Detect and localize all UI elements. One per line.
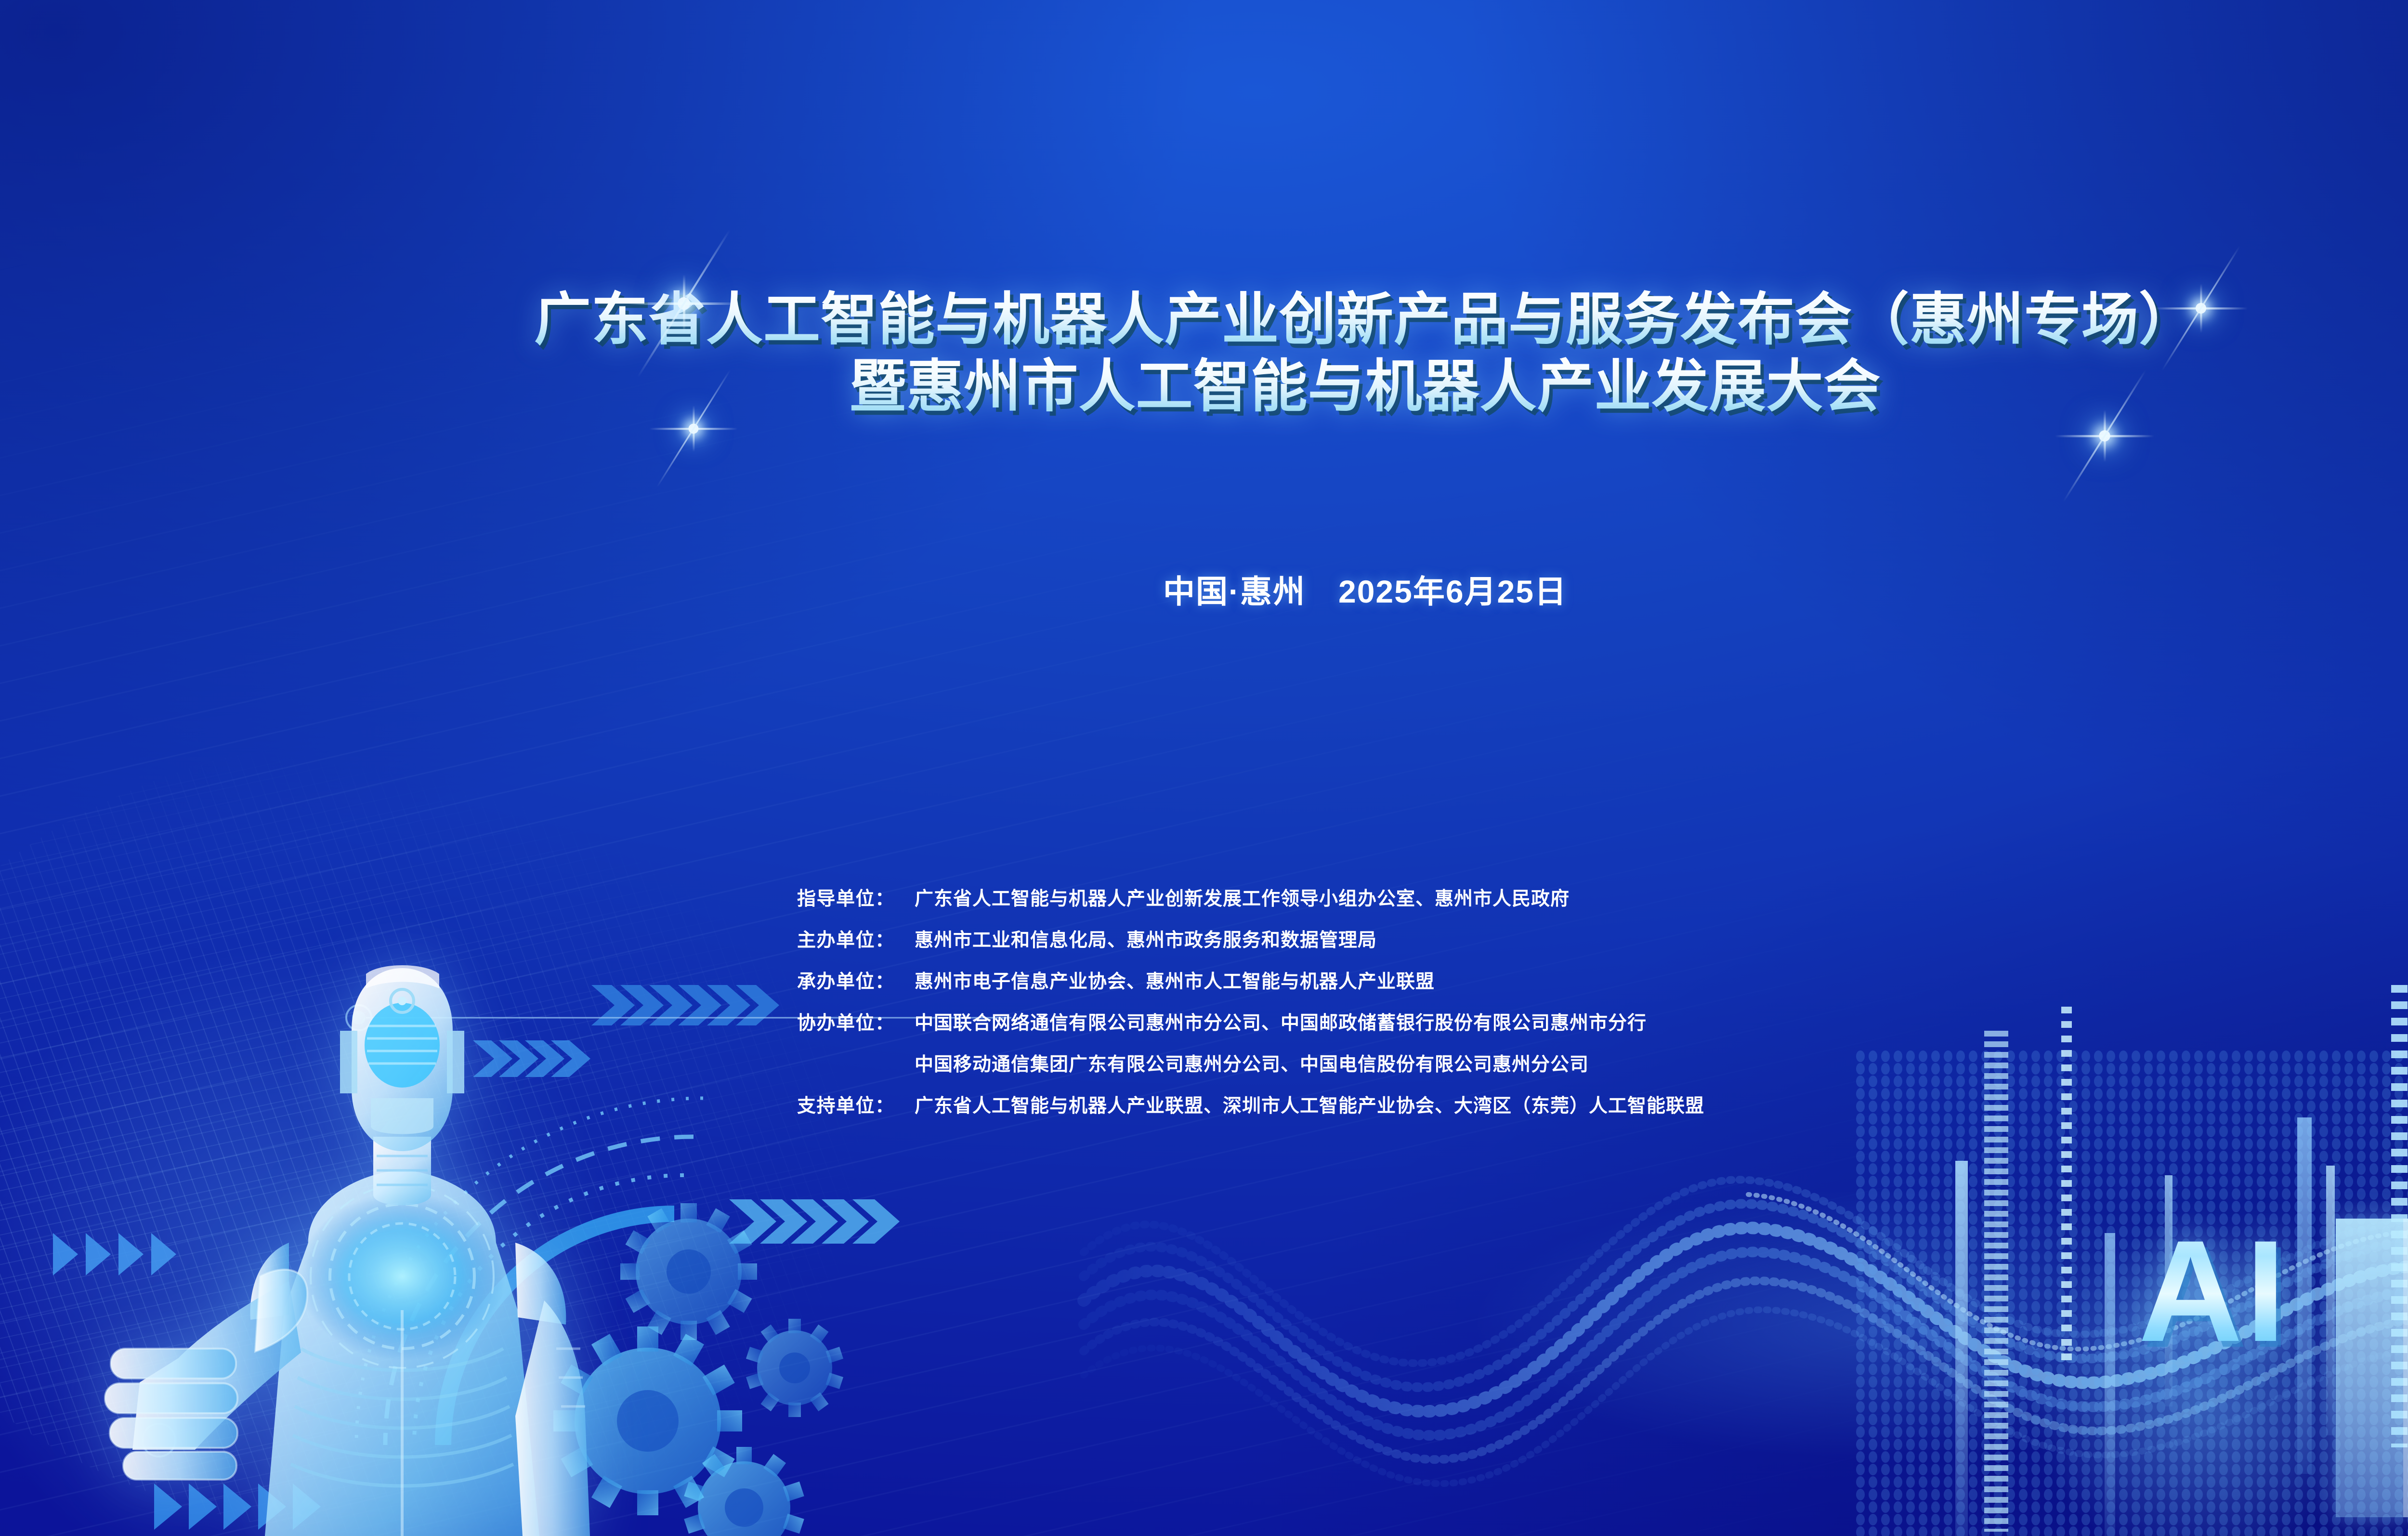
diagonal-streak-lines [0, 0, 2408, 1536]
organizer-row: 主办单位： 惠州市工业和信息化局、惠州市政务服务和数据管理局 [797, 925, 1704, 952]
organizer-value: 广东省人工智能与机器人产业联盟、深圳市人工智能产业协会、大湾区（东莞）人工智能联… [915, 1091, 1704, 1118]
node-circle-icon [143, 1424, 175, 1457]
poster-canvas: AI [0, 0, 2408, 1536]
organizer-label: 承办单位： [797, 967, 906, 994]
organizer-label: 支持单位： [797, 1091, 906, 1118]
chevron-arrow-icon [591, 985, 779, 1025]
title-line-2: 暨惠州市人工智能与机器人产业发展大会 [0, 354, 2408, 420]
chevron-arrow-icon [473, 1040, 590, 1077]
equalizer-bar-solid [2105, 1233, 2115, 1536]
equalizer-bar-segmented [2061, 1007, 2072, 1363]
humanoid-robot-figure [82, 944, 722, 1536]
equalizer-bar-solid [2297, 1117, 2312, 1474]
chevron-arrow-icon [729, 1199, 900, 1244]
organizer-label: 主办单位： [797, 925, 906, 952]
ai-glow-secondary [2345, 1180, 2408, 1536]
vertical-comb-texture [1854, 1050, 2408, 1536]
background-vignette [0, 0, 2408, 1536]
gear-icon [684, 1447, 804, 1536]
equalizer-bar-segmented [1984, 1031, 2008, 1532]
robot-glow [0, 915, 650, 1536]
organizer-value: 惠州市电子信息产业协会、惠州市人工智能与机器人产业联盟 [915, 967, 1435, 994]
organizer-row: 协办单位： 中国联合网络通信有限公司惠州市分公司、中国邮政储蓄银行股份有限公司惠… [797, 1008, 1704, 1035]
event-subtitle: 中国·惠州 2025年6月25日 [0, 566, 2408, 612]
title-line-1: 广东省人工智能与机器人产业创新产品与服务发布会（惠州专场） [0, 287, 2408, 354]
organizer-row: 承办单位： 惠州市电子信息产业协会、惠州市人工智能与机器人产业联盟 [797, 967, 1704, 994]
gear-icon [746, 1319, 843, 1417]
right-gear-decorations [568, 1146, 905, 1483]
organizer-value: 广东省人工智能与机器人产业创新发展工作领导小组办公室、惠州市人民政府 [915, 884, 1570, 911]
gear-icon [553, 1326, 742, 1515]
organizer-value: 惠州市工业和信息化局、惠州市政务服务和数据管理局 [915, 925, 1377, 952]
organizers-block: 指导单位： 广东省人工智能与机器人产业创新发展工作领导小组办公室、惠州市人民政府… [797, 884, 1704, 1132]
gear-icon [620, 1203, 757, 1340]
triangle-arrow-icon [53, 1233, 176, 1275]
organizer-label: 指导单位： [797, 884, 906, 911]
page-title: 广东省人工智能与机器人产业创新产品与服务发布会（惠州专场） 暨惠州市人工智能与机… [0, 287, 2408, 420]
organizer-label: 协办单位： [797, 1008, 906, 1035]
equalizer-bar-segmented [2391, 985, 2408, 1447]
hud-solid-ring [443, 1214, 674, 1445]
organizer-row: 指导单位： 广东省人工智能与机器人产业创新发展工作领导小组办公室、惠州市人民政府 [797, 884, 1704, 911]
organizer-value: 中国联合网络通信有限公司惠州市分公司、中国邮政储蓄银行股份有限公司惠州市分行 [915, 1008, 1647, 1035]
organizer-row-continuation: 协办单位： 中国移动通信集团广东有限公司惠州分公司、中国电信股份有限公司惠州分公… [797, 1050, 1704, 1077]
organizer-value: 中国移动通信集团广东有限公司惠州分公司、中国电信股份有限公司惠州分公司 [915, 1050, 1589, 1077]
triangle-arrow-icon [154, 1483, 321, 1530]
equalizer-bar-solid [1955, 1161, 1968, 1536]
ai-wordmark: AI [2138, 1219, 2289, 1363]
organizer-row: 支持单位： 广东省人工智能与机器人产业联盟、深圳市人工智能产业协会、大湾区（东莞… [797, 1091, 1704, 1118]
equalizer-bar-solid [2326, 1166, 2335, 1435]
equalizer-bar-solid [2336, 1219, 2408, 1517]
hud-dashed-arcs [356, 1098, 703, 1445]
